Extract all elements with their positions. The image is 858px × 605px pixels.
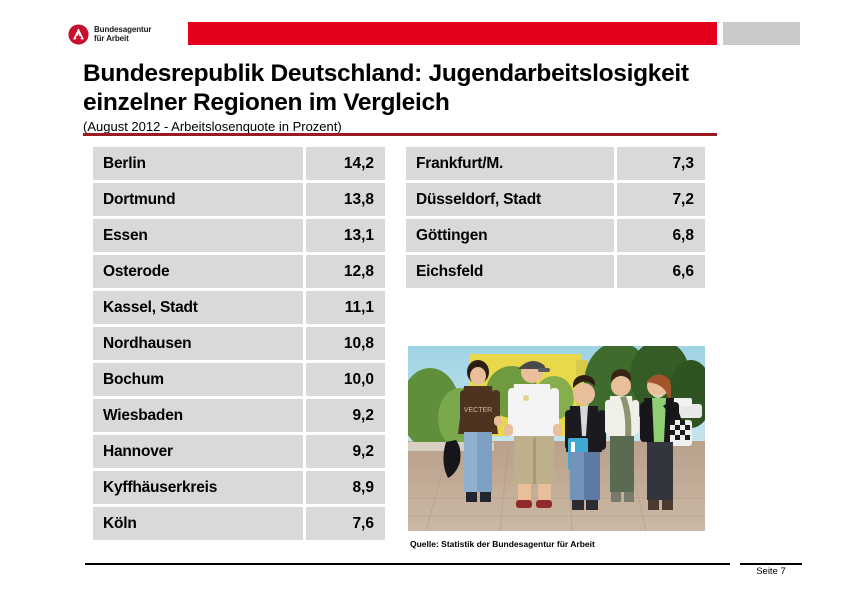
region-name: Hannover (93, 443, 303, 461)
table-row: Hannover9,2 (93, 435, 385, 471)
region-rate-value: 10,0 (303, 363, 385, 396)
region-name: Eichsfeld (406, 263, 614, 281)
page-number: Seite 7 (740, 566, 802, 577)
region-name: Frankfurt/M. (406, 155, 614, 173)
region-rate-value: 13,8 (303, 183, 385, 216)
table-row: Essen13,1 (93, 219, 385, 255)
region-name: Düsseldorf, Stadt (406, 191, 614, 209)
footer-divider (85, 563, 730, 565)
region-name: Dortmund (93, 191, 303, 209)
table-row: Nordhausen10,8 (93, 327, 385, 363)
region-rate-value: 14,2 (303, 147, 385, 180)
region-name: Bochum (93, 371, 303, 389)
photo-young-people: VECTER (408, 346, 705, 531)
region-name: Kassel, Stadt (93, 299, 303, 317)
title-block: Bundesrepublik Deutschland: Jugendarbeit… (83, 60, 783, 135)
table-row: Berlin14,2 (93, 147, 385, 183)
region-rate-value: 6,6 (614, 255, 705, 288)
region-rate-value: 7,2 (614, 183, 705, 216)
table-row: Osterode12,8 (93, 255, 385, 291)
region-name: Köln (93, 515, 303, 533)
region-name: Nordhausen (93, 335, 303, 353)
page-title: Bundesrepublik Deutschland: Jugendarbeit… (83, 60, 783, 117)
region-name: Göttingen (406, 227, 614, 245)
header-bar-gray (723, 22, 800, 45)
header-bar-red (188, 22, 717, 45)
table-row: Bochum10,0 (93, 363, 385, 399)
brand-logo-text: Bundesagentur für Arbeit (94, 25, 151, 43)
region-rate-value: 11,1 (303, 291, 385, 324)
table-row: Eichsfeld6,6 (406, 255, 705, 288)
region-rate-value: 10,8 (303, 327, 385, 360)
table-row: Wiesbaden9,2 (93, 399, 385, 435)
table-row: Frankfurt/M.7,3 (406, 147, 705, 183)
regions-table-right: Frankfurt/M.7,3Düsseldorf, Stadt7,2Götti… (406, 147, 705, 288)
region-rate-value: 6,8 (614, 219, 705, 252)
regions-table-left: Berlin14,2Dortmund13,8Essen13,1Osterode1… (93, 147, 385, 540)
region-rate-value: 12,8 (303, 255, 385, 288)
region-rate-value: 8,9 (303, 471, 385, 504)
region-rate-value: 9,2 (303, 435, 385, 468)
table-row: Köln7,6 (93, 507, 385, 540)
region-name: Essen (93, 227, 303, 245)
brand-logo: Bundesagentur für Arbeit (68, 20, 178, 48)
table-row: Kassel, Stadt11,1 (93, 291, 385, 327)
table-row: Göttingen6,8 (406, 219, 705, 255)
region-name: Berlin (93, 155, 303, 173)
footer-page-divider (740, 563, 802, 565)
region-rate-value: 9,2 (303, 399, 385, 432)
table-row: Düsseldorf, Stadt7,2 (406, 183, 705, 219)
region-name: Kyffhäuserkreis (93, 479, 303, 497)
region-name: Osterode (93, 263, 303, 281)
svg-text:VECTER: VECTER (464, 407, 492, 414)
title-divider (83, 133, 717, 136)
region-name: Wiesbaden (93, 407, 303, 425)
table-row: Kyffhäuserkreis8,9 (93, 471, 385, 507)
region-rate-value: 13,1 (303, 219, 385, 252)
table-row: Dortmund13,8 (93, 183, 385, 219)
region-rate-value: 7,3 (614, 147, 705, 180)
region-rate-value: 7,6 (303, 507, 385, 540)
photo-source-caption: Quelle: Statistik der Bundesagentur für … (410, 539, 595, 549)
bundesagentur-logo-icon (68, 24, 89, 45)
